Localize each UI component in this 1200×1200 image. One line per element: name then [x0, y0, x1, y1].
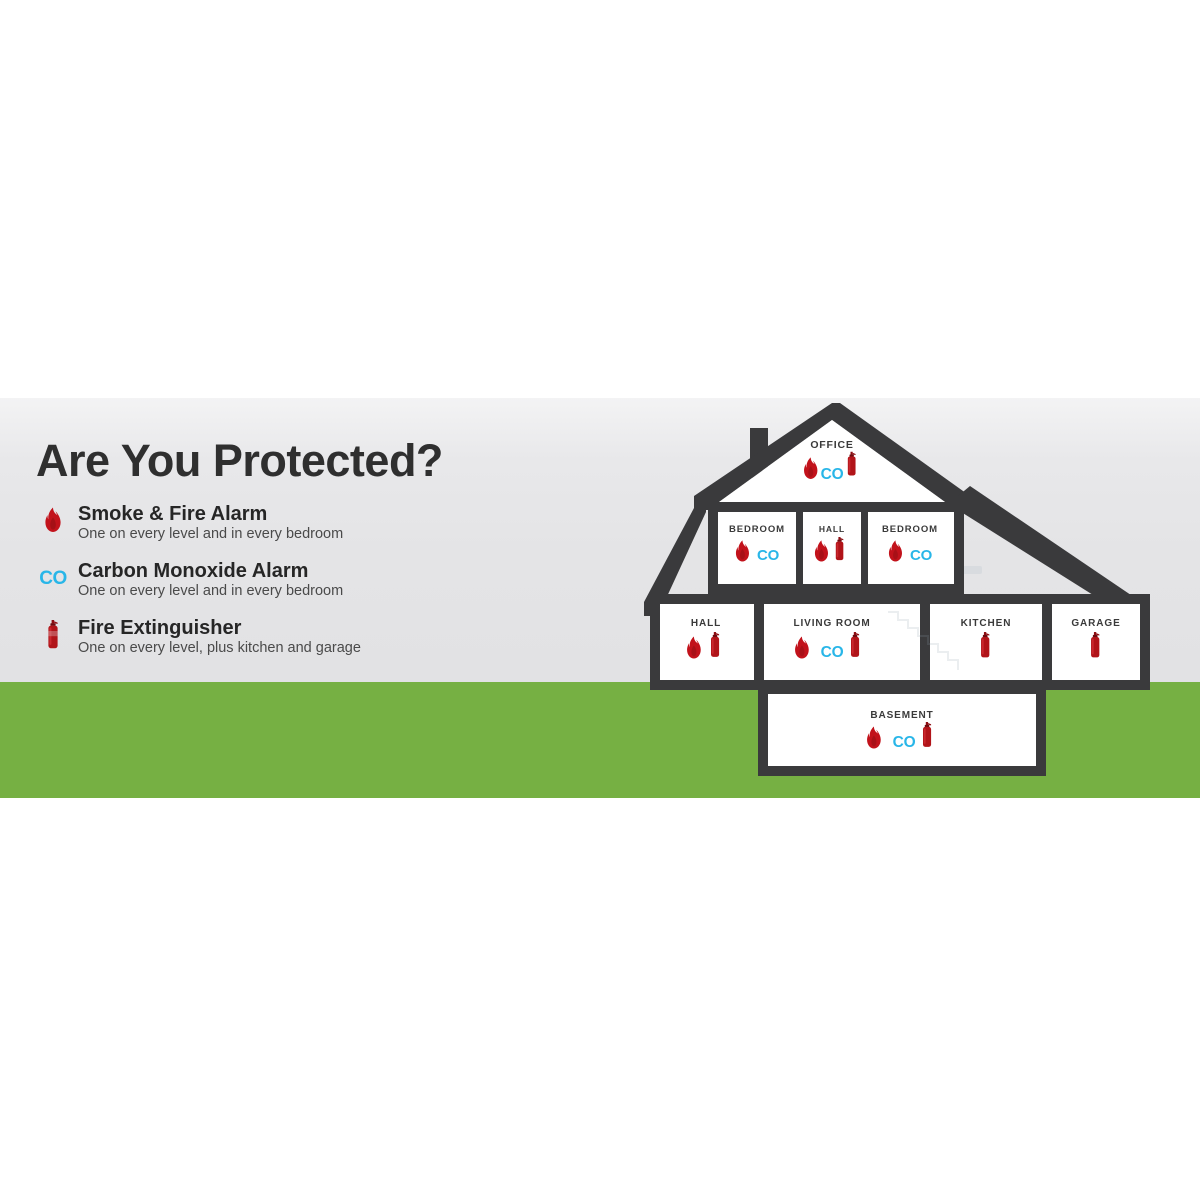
flame-icon: [36, 505, 70, 539]
room-label-garage: GARAGE: [1071, 618, 1120, 629]
room-hall-main-wall: [660, 604, 754, 680]
legend-item-fire-extinguisher: Fire Extinguisher One on every level, pl…: [36, 617, 596, 658]
room-label-bedroom-left: BEDROOM: [729, 524, 785, 535]
legend-item-smoke-fire-alarm: Smoke & Fire Alarm One on every level an…: [36, 503, 596, 544]
room-label-office: OFFICE: [810, 439, 853, 451]
legend-item-subtitle: One on every level and in every bedroom: [78, 583, 596, 600]
room-label-kitchen: KITCHEN: [961, 618, 1012, 629]
co-badge-text: CO: [39, 568, 67, 590]
house-cutaway-diagram: OFFICE CO BEDROOM CO HALL BEDROOM: [640, 398, 1180, 798]
page-title: Are You Protected?: [36, 438, 596, 483]
legend-item-title: Carbon Monoxide Alarm: [78, 560, 596, 582]
legend-item-subtitle: One on every level and in every bedroom: [78, 526, 596, 543]
room-label-hall-upper: HALL: [819, 524, 845, 534]
legend-item-title: Smoke & Fire Alarm: [78, 503, 596, 525]
room-bedroom-left-wall: [718, 512, 796, 584]
room-bedroom-right-wall: [868, 512, 954, 584]
room-label-living-room: LIVING ROOM: [793, 618, 870, 629]
legend-panel: Are You Protected? Smoke & Fire Alarm On…: [36, 438, 596, 673]
legend-item-subtitle: One on every level, plus kitchen and gar…: [78, 640, 596, 657]
room-garage-wall: [1052, 604, 1140, 680]
fire-extinguisher-icon: [36, 619, 70, 653]
room-hall-upper-wall: [803, 512, 861, 584]
infographic-banner: Are You Protected? Smoke & Fire Alarm On…: [0, 398, 1200, 798]
room-label-bedroom-right: BEDROOM: [882, 524, 938, 535]
room-label-basement: BASEMENT: [870, 710, 933, 721]
room-living-room-wall: [764, 604, 920, 680]
legend-item-carbon-monoxide-alarm: CO Carbon Monoxide Alarm One on every le…: [36, 560, 596, 601]
room-label-hall-main: HALL: [691, 618, 721, 629]
room-kitchen-wall: [930, 604, 1042, 680]
co-badge-icon: CO: [36, 562, 70, 596]
legend-item-title: Fire Extinguisher: [78, 617, 596, 639]
room-basement-wall: [768, 694, 1036, 766]
